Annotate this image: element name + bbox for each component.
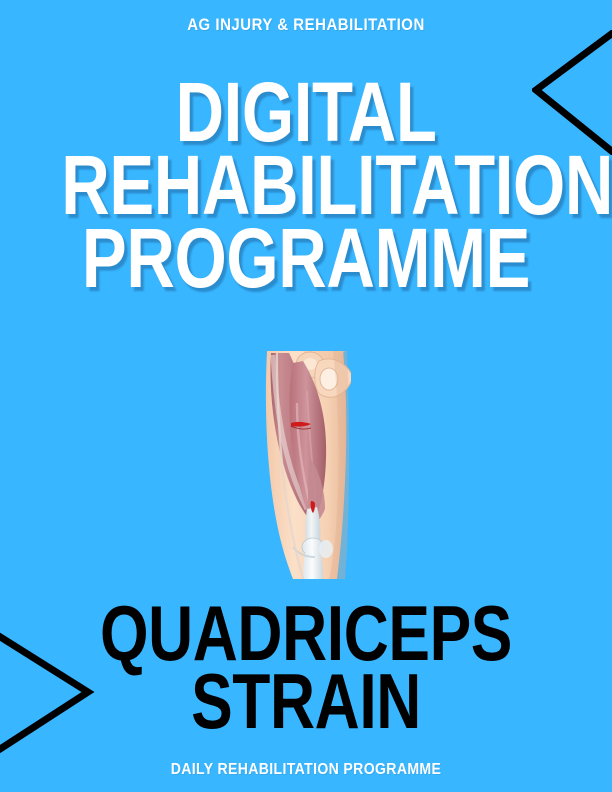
quadriceps-anatomy-illustration [263, 351, 353, 579]
brand-kicker: AG INJURY & REHABILITATION [37, 16, 576, 33]
poster-canvas: AG INJURY & REHABILITATION DIGITAL REHAB… [0, 0, 612, 792]
page-title: DIGITAL REHABILITATION PROGRAMME [0, 78, 612, 293]
condition-title: QUADRICEPS STRAIN [0, 600, 612, 736]
condition-line-2: STRAIN [61, 668, 551, 736]
footer-tagline: DAILY REHABILITATION PROGRAMME [37, 762, 576, 778]
title-line-2: REHABILITATION [61, 151, 551, 220]
title-line-3: PROGRAMME [61, 224, 551, 293]
title-line-1: DIGITAL [61, 78, 551, 147]
